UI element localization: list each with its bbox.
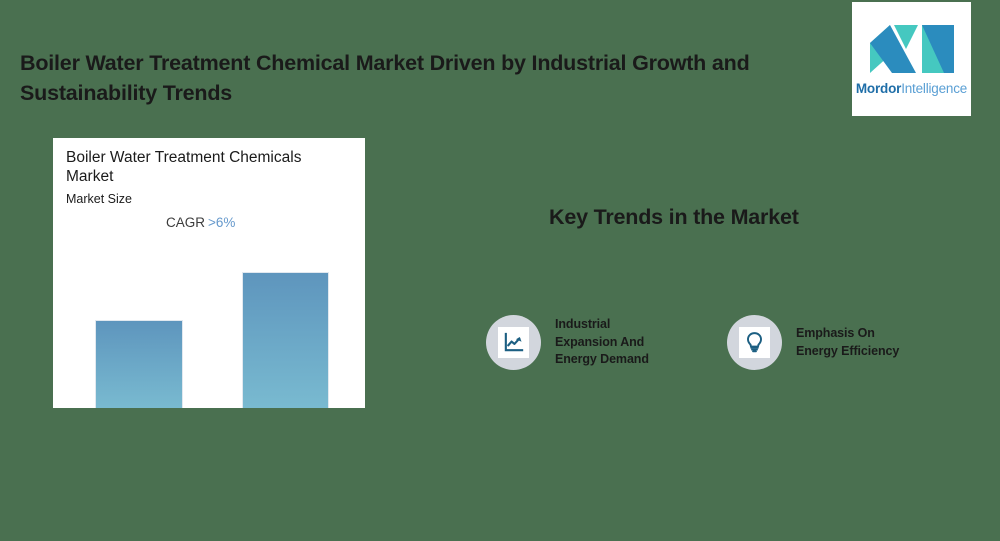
lightbulb-icon-glyph	[743, 331, 766, 354]
growth-chart-icon-glyph	[502, 331, 525, 354]
chart-title: Boiler Water Treatment Chemicals Market	[66, 148, 336, 186]
trend-label: Industrial Expansion And Energy Demand	[555, 316, 649, 369]
brand-logo-card: MordorIntelligence	[852, 2, 971, 116]
market-size-chart-card: Boiler Water Treatment Chemicals Market …	[53, 138, 365, 408]
lightbulb-icon	[739, 327, 770, 358]
bar-base-year	[96, 321, 182, 408]
mordor-m-mark-icon	[868, 23, 956, 73]
cagr-value: >6%	[208, 215, 235, 230]
cagr-annotation: CAGR>6%	[166, 215, 235, 230]
growth-chart-icon	[498, 327, 529, 358]
logo-wordmark: MordorIntelligence	[856, 82, 967, 96]
trend-icon-circle	[486, 315, 541, 370]
logo-word-secondary: Intelligence	[901, 81, 967, 96]
page-title: Boiler Water Treatment Chemical Market D…	[20, 48, 820, 108]
trend-item-industrial-expansion: Industrial Expansion And Energy Demand	[486, 315, 649, 370]
cagr-label: CAGR	[166, 215, 205, 230]
chart-plot-area	[53, 248, 365, 408]
key-trends-heading: Key Trends in the Market	[549, 205, 799, 230]
logo-word-primary: Mordor	[856, 81, 901, 96]
trend-icon-circle	[727, 315, 782, 370]
chart-subtitle: Market Size	[66, 192, 132, 206]
trend-label: Emphasis On Energy Efficiency	[796, 325, 899, 360]
bar-forecast-year	[243, 273, 328, 408]
trend-item-energy-efficiency: Emphasis On Energy Efficiency	[727, 315, 899, 370]
